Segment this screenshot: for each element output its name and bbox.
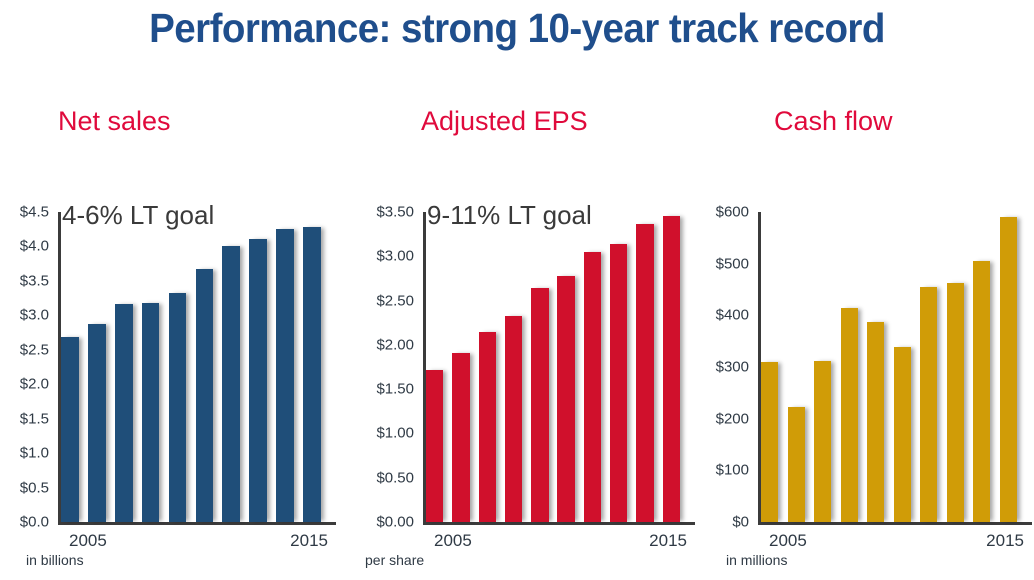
x-tick-first: 2005 [434,531,472,551]
x-tick-first: 2005 [69,531,107,551]
x-tick-labels-adjusted-eps: 2005 2015 [426,531,689,551]
bar [531,288,548,522]
bar [88,324,106,522]
y-tick-label: $0.50 [376,470,414,485]
bar [867,322,884,522]
bar-slot [636,212,662,522]
bar [788,407,805,522]
y-tick-label: $0 [732,515,749,530]
y-tick-label: $3.00 [376,249,414,264]
chart-heading-net-sales: Net sales [58,104,171,138]
y-tick-label: $500 [716,256,749,271]
x-axis-line [758,522,1032,525]
x-tick-last: 2015 [290,531,328,551]
y-tick-label: $1.50 [376,382,414,397]
bar [636,224,653,522]
bar [920,287,937,522]
bar-slot [920,212,947,522]
bar-slot [663,212,689,522]
bar [894,347,911,522]
bar [222,246,240,522]
y-tick-label: $1.5 [20,411,49,426]
bar-slot [894,212,921,522]
bar [505,316,522,522]
y-tick-label: $4.5 [20,205,49,220]
chart-panel-net-sales: Net sales 4-6% LT goal $0.0$0.5$1.0$1.5$… [0,104,352,576]
bar [169,293,187,522]
page-title: Performance: strong 10-year track record [31,2,1003,54]
y-tick-label: $3.0 [20,308,49,323]
x-tick-labels-net-sales: 2005 2015 [61,531,330,551]
bar-slot [947,212,974,522]
y-tick-label: $3.50 [376,205,414,220]
bar-slot [115,212,142,522]
bar-series-cash-flow [761,212,1026,522]
units-note-cash-flow: in millions [726,552,787,568]
y-tick-label: $600 [716,205,749,220]
bar [249,239,267,522]
bar-slot [249,212,276,522]
y-tick-label: $400 [716,308,749,323]
bar-slot [505,212,531,522]
chart-heading-adjusted-eps: Adjusted EPS [421,104,588,138]
bar [142,303,160,522]
bar [196,269,214,523]
bar [61,337,79,522]
bar [814,361,831,522]
bar [276,229,294,522]
bar [841,308,858,522]
x-tick-last: 2015 [986,531,1024,551]
bar-slot [142,212,169,522]
units-note-adjusted-eps: per share [365,552,424,568]
plot-area-net-sales: $0.0$0.5$1.0$1.5$2.0$2.5$3.0$3.5$4.0$4.5… [58,212,330,522]
bar [610,244,627,522]
x-tick-labels-cash-flow: 2005 2015 [761,531,1026,551]
y-tick-label: $2.5 [20,342,49,357]
bar [557,276,574,522]
bar-slot [169,212,196,522]
units-note-net-sales: in billions [26,552,84,568]
chart-heading-cash-flow: Cash flow [774,104,893,138]
chart-panel-cash-flow: Cash flow $0$100$200$300$400$500$600 200… [700,104,1034,576]
y-tick-label: $1.0 [20,446,49,461]
bar-slot [814,212,841,522]
bar-slot [88,212,115,522]
x-tick-last: 2015 [649,531,687,551]
bar-slot [479,212,505,522]
bar-slot [452,212,478,522]
bar-slot [222,212,249,522]
bar-slot [303,212,330,522]
bar-series-adjusted-eps [426,212,689,522]
y-tick-label: $100 [716,463,749,478]
chart-panel-adjusted-eps: Adjusted EPS 9-11% LT goal $0.00$0.50$1.… [355,104,703,576]
bar-slot [1000,212,1027,522]
bar-slot [867,212,894,522]
bar-slot [196,212,223,522]
goal-note-adjusted-eps: 9-11% LT goal [427,200,592,230]
bar-slot [531,212,557,522]
bar [452,353,469,522]
bar [947,283,964,522]
bar [1000,217,1017,522]
bar [479,332,496,522]
bar-slot [761,212,788,522]
y-tick-label: $0.5 [20,480,49,495]
bar-slot [557,212,583,522]
bar-slot [841,212,868,522]
bar [584,252,601,522]
bar [115,304,133,522]
x-tick-first: 2005 [769,531,807,551]
x-axis-line [423,522,695,525]
bar-slot [610,212,636,522]
y-tick-label: $300 [716,360,749,375]
y-tick-label: $2.50 [376,293,414,308]
bar-slot [788,212,815,522]
y-tick-label: $2.00 [376,337,414,352]
plot-area-adjusted-eps: $0.00$0.50$1.00$1.50$2.00$2.50$3.00$3.50… [423,212,689,522]
bar-slot [584,212,610,522]
y-tick-label: $4.0 [20,239,49,254]
plot-area-cash-flow: $0$100$200$300$400$500$600 2005 2015 [758,212,1026,522]
goal-note-net-sales: 4-6% LT goal [62,200,214,230]
y-tick-label: $200 [716,411,749,426]
bar-series-net-sales [61,212,330,522]
x-axis-line [58,522,336,525]
bar [426,370,443,522]
y-tick-label: $2.0 [20,377,49,392]
bar-slot [276,212,303,522]
bar [303,227,321,522]
y-tick-label: $0.0 [20,515,49,530]
bar-slot [973,212,1000,522]
bar-slot [426,212,452,522]
bar [761,362,778,522]
bar [973,261,990,522]
bar [663,216,680,522]
y-tick-label: $3.5 [20,273,49,288]
y-tick-label: $0.00 [376,515,414,530]
bar-slot [61,212,88,522]
y-tick-label: $1.00 [376,426,414,441]
